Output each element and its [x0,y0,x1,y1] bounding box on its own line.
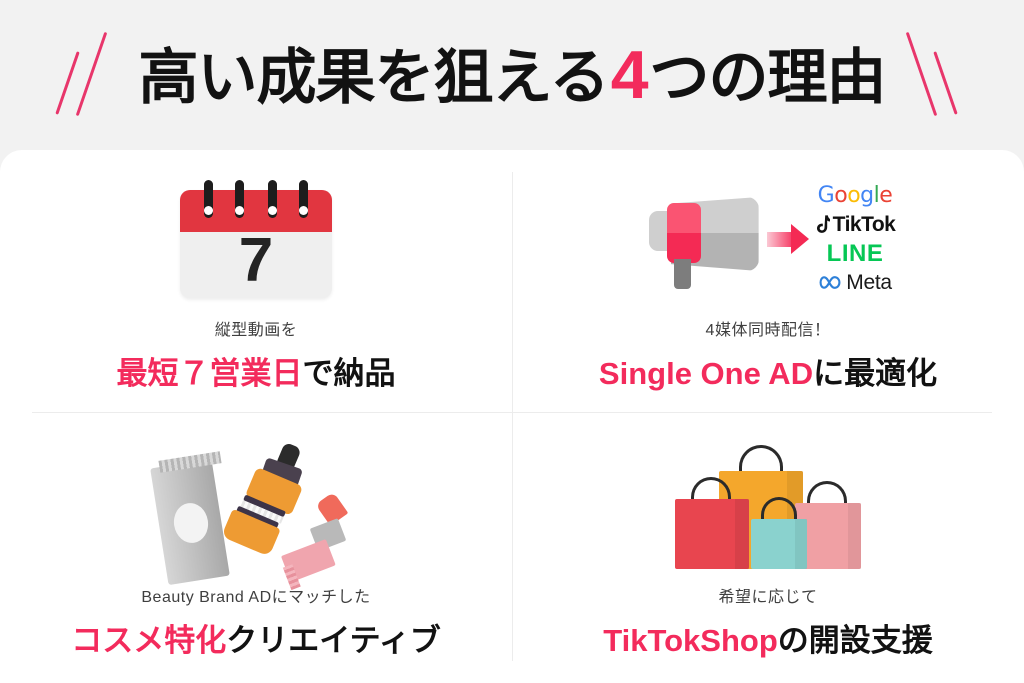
tiktok-logo-text: TikTok [833,213,896,237]
cosmetics-icon-area [141,431,371,581]
tiktok-logo: TikTok [815,213,896,237]
feature-headline-rest: の開設支援 [778,623,933,658]
arrow-head [791,224,809,254]
meta-logo: Meta [818,271,892,295]
page-title-accent-number: 4 [611,41,648,109]
music-note-icon [815,215,830,234]
feature-subtitle: 縦型動画を [215,316,298,340]
calendar-day-number: 7 [180,228,332,294]
cosmetics-icon [141,431,371,581]
line-logo: LINE [827,240,884,268]
feature-headline: コスメ特化クリエイティブ [71,615,441,660]
infinity-icon [818,275,842,290]
feature-headline-rest: で納品 [303,356,396,391]
megaphone-handle [674,259,691,289]
feature-headline-accent: コスメ特化 [71,623,226,658]
diagonal-slashes-icon-left [58,28,128,128]
feature-subtitle: 4媒体同時配信！ [706,316,831,340]
slash-mark [933,51,957,114]
feature-subtitle: 希望に応じて [718,583,817,607]
megaphone-icon-area: Google TikTok [618,164,918,314]
features-grid: 7 縦型動画を 最短７営業日で納品 [0,150,1024,683]
infographic-root: 高い成果を狙える4つの理由 [0,0,1024,683]
shopping-bags-icon-area [663,431,873,581]
slash-mark [76,32,107,116]
diagonal-slashes-icon-right [898,28,968,128]
bag-shade [735,499,749,569]
page-title-part2: つの理由 [650,48,886,108]
platform-logos: Google TikTok [815,183,896,295]
feature-headline-accent: 最短７営業日 [117,356,303,391]
feature-headline: Single One ADに最適化 [599,348,937,393]
shopping-bags-icon [663,431,873,581]
feature-headline-accent: Single One AD [599,356,813,391]
megaphone-body-top [667,203,701,233]
slash-mark [906,32,937,116]
feature-cell-multi-platform: Google TikTok [512,150,1024,417]
logo-row-google: Google [818,183,893,208]
megaphone-icon [641,189,761,289]
calendar-ring-hole [299,206,308,215]
calendar-ring-hole [204,206,213,215]
features-card: 7 縦型動画を 最短７営業日で納品 [0,150,1024,683]
feature-headline: TikTokShopの開設支援 [603,615,933,660]
shopping-bag [751,519,807,569]
arrow-right-icon [767,222,809,256]
calendar-ring-hole [268,206,277,215]
feature-headline-rest: に最適化 [813,356,937,391]
header: 高い成果を狙える4つの理由 [0,0,1024,150]
feature-headline-accent: TikTokShop [603,623,778,658]
feature-cell-tiktok-shop-support: 希望に応じて TikTokShopの開設支援 [512,417,1024,683]
feature-headline: 最短７営業日で納品 [117,348,396,393]
page-title: 高い成果を狙える4つの理由 [138,41,885,109]
feature-cell-delivery-speed: 7 縦型動画を 最短７営業日で納品 [0,150,512,417]
calendar-icon: 7 [180,180,332,298]
logo-row-meta: Meta [818,270,892,295]
shopping-bag [675,499,749,569]
feature-headline-rest: クリエイティブ [226,623,441,658]
calendar-icon-area: 7 [180,164,332,314]
calendar-ring-hole [235,206,244,215]
logo-row-tiktok: TikTok [815,212,896,237]
google-logo: Google [818,183,893,208]
feature-cell-cosmetics-creative: Beauty Brand ADにマッチした コスメ特化クリエイティブ [0,417,512,683]
logo-row-line: LINE [827,241,884,266]
bag-shade [795,519,807,569]
megaphone-logos-group: Google TikTok [618,183,918,295]
bag-shade [848,503,861,569]
page-title-part1: 高い成果を狙える [138,48,608,108]
slash-mark [55,51,79,114]
meta-logo-text: Meta [846,271,892,295]
feature-subtitle: Beauty Brand ADにマッチした [141,583,370,607]
arrow-tail [767,232,793,247]
